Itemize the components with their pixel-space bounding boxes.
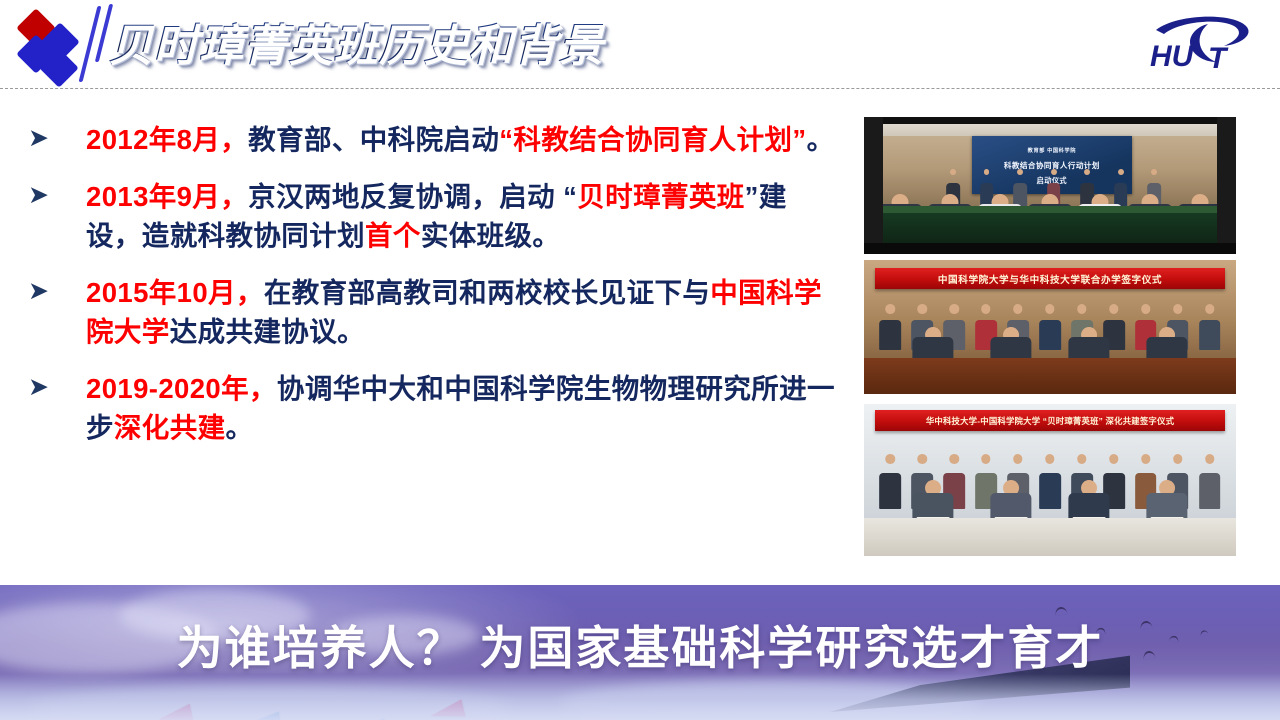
bullet-4-seg-4: 。 bbox=[226, 412, 254, 443]
photo-3-banner-text: 华中科技大学-中国科学院大学 “贝时璋菁英班” 深化共建签字仪式 bbox=[926, 415, 1174, 427]
bullet-marker-icon: ➤ bbox=[28, 369, 86, 400]
bullet-item-1: ➤ 2012年8月，教育部、中科院启动“科教结合协同育人计划”。 bbox=[28, 120, 840, 159]
bullet-marker-icon: ➤ bbox=[28, 273, 86, 304]
svg-text:T: T bbox=[1208, 42, 1229, 75]
bullet-2-seg-6: 实体班级。 bbox=[421, 220, 561, 251]
photo-launch-ceremony: 教育部 中国科学院 科教结合协同育人行动计划 启动仪式 bbox=[864, 117, 1236, 254]
bullet-1-seg-2: 教育部、中科院启动 bbox=[248, 124, 499, 155]
photo-joint-program-signing: 中国科学院大学与华中科技大学联合办学签字仪式 bbox=[864, 260, 1236, 394]
bullet-2-seg-3: 贝时璋菁英班 bbox=[577, 181, 744, 212]
bottom-banner: 为谁培养人？ 为国家基础科学研究选才育才 bbox=[0, 585, 1280, 720]
bullet-item-3: ➤ 2015年10月，在教育部高教司和两校校长见证下与中国科学院大学达成共建协议… bbox=[28, 273, 840, 351]
diamond-logo bbox=[18, 10, 84, 76]
bullet-item-2: ➤ 2013年9月，京汉两地反复协调，启动 “贝时璋菁英班”建设，造就科教协同计… bbox=[28, 177, 840, 255]
bullet-text-3: 2015年10月，在教育部高教司和两校校长见证下与中国科学院大学达成共建协议。 bbox=[86, 273, 840, 351]
bullet-item-4: ➤ 2019-2020年，协调华中大和中国科学院生物物理研究所进一步深化共建。 bbox=[28, 369, 840, 447]
bullet-text-2: 2013年9月，京汉两地反复协调，启动 “贝时璋菁英班”建设，造就科教协同计划首… bbox=[86, 177, 840, 255]
photo-3-banner: 华中科技大学-中国科学院大学 “贝时璋菁英班” 深化共建签字仪式 bbox=[875, 410, 1225, 431]
svg-text:HU: HU bbox=[1150, 40, 1195, 73]
page-title: 贝时璋菁英班历史和背景 bbox=[108, 9, 603, 73]
bullet-text-1: 2012年8月，教育部、中科院启动“科教结合协同育人计划”。 bbox=[86, 120, 840, 159]
photo-1-backdrop-line-1: 教育部 中国科学院 bbox=[972, 147, 1132, 154]
bullet-4-seg-3: 深化共建 bbox=[114, 412, 226, 443]
slide: 贝时璋菁英班历史和背景 HU T ➤ 2012年8月，教育部、中科院启动“科教结… bbox=[0, 0, 1280, 720]
paper-plane-icon bbox=[428, 699, 465, 720]
bullet-1-seg-3: “科教结合协同育人计划” bbox=[499, 124, 806, 155]
photo-deepened-cooperation-signing: 华中科技大学-中国科学院大学 “贝时璋菁英班” 深化共建签字仪式 bbox=[864, 404, 1236, 556]
bullet-marker-icon: ➤ bbox=[28, 120, 86, 151]
bullet-2-seg-2: 京汉两地反复协调，启动 “ bbox=[248, 181, 577, 212]
paper-plane-icon bbox=[157, 704, 194, 720]
bullet-3-seg-1: 2015年10月， bbox=[86, 277, 264, 308]
bullet-4-seg-1: 2019-2020年， bbox=[86, 373, 277, 404]
bullet-list: ➤ 2012年8月，教育部、中科院启动“科教结合协同育人计划”。 ➤ 2013年… bbox=[28, 120, 840, 570]
paper-plane-icon bbox=[249, 711, 281, 720]
photo-2-banner: 中国科学院大学与华中科技大学联合办学签字仪式 bbox=[875, 268, 1225, 289]
photo-column: 教育部 中国科学院 科教结合协同育人行动计划 启动仪式 bbox=[864, 117, 1236, 557]
bullet-2-seg-5: 首个 bbox=[365, 220, 421, 251]
bullet-3-seg-4: 达成共建协议。 bbox=[170, 316, 365, 347]
hust-logo: HU T bbox=[1146, 10, 1258, 76]
photo-2-banner-text: 中国科学院大学与华中科技大学联合办学签字仪式 bbox=[938, 272, 1162, 286]
header-divider bbox=[0, 88, 1280, 89]
slide-header: 贝时璋菁英班历史和背景 HU T bbox=[0, 0, 1280, 88]
banner-headline: 为谁培养人？ 为国家基础科学研究选才育才 bbox=[0, 612, 1280, 678]
bullet-2-seg-1: 2013年9月， bbox=[86, 181, 248, 212]
cloud-icon bbox=[30, 687, 510, 720]
cloud-icon bbox=[560, 681, 980, 720]
bullet-3-seg-2: 在教育部高教司和两校校长见证下与 bbox=[264, 277, 710, 308]
bullet-text-4: 2019-2020年，协调华中大和中国科学院生物物理研究所进一步深化共建。 bbox=[86, 369, 840, 447]
bullet-1-seg-1: 2012年8月， bbox=[86, 124, 248, 155]
bullet-marker-icon: ➤ bbox=[28, 177, 86, 208]
bullet-1-seg-4: 。 bbox=[807, 124, 835, 155]
